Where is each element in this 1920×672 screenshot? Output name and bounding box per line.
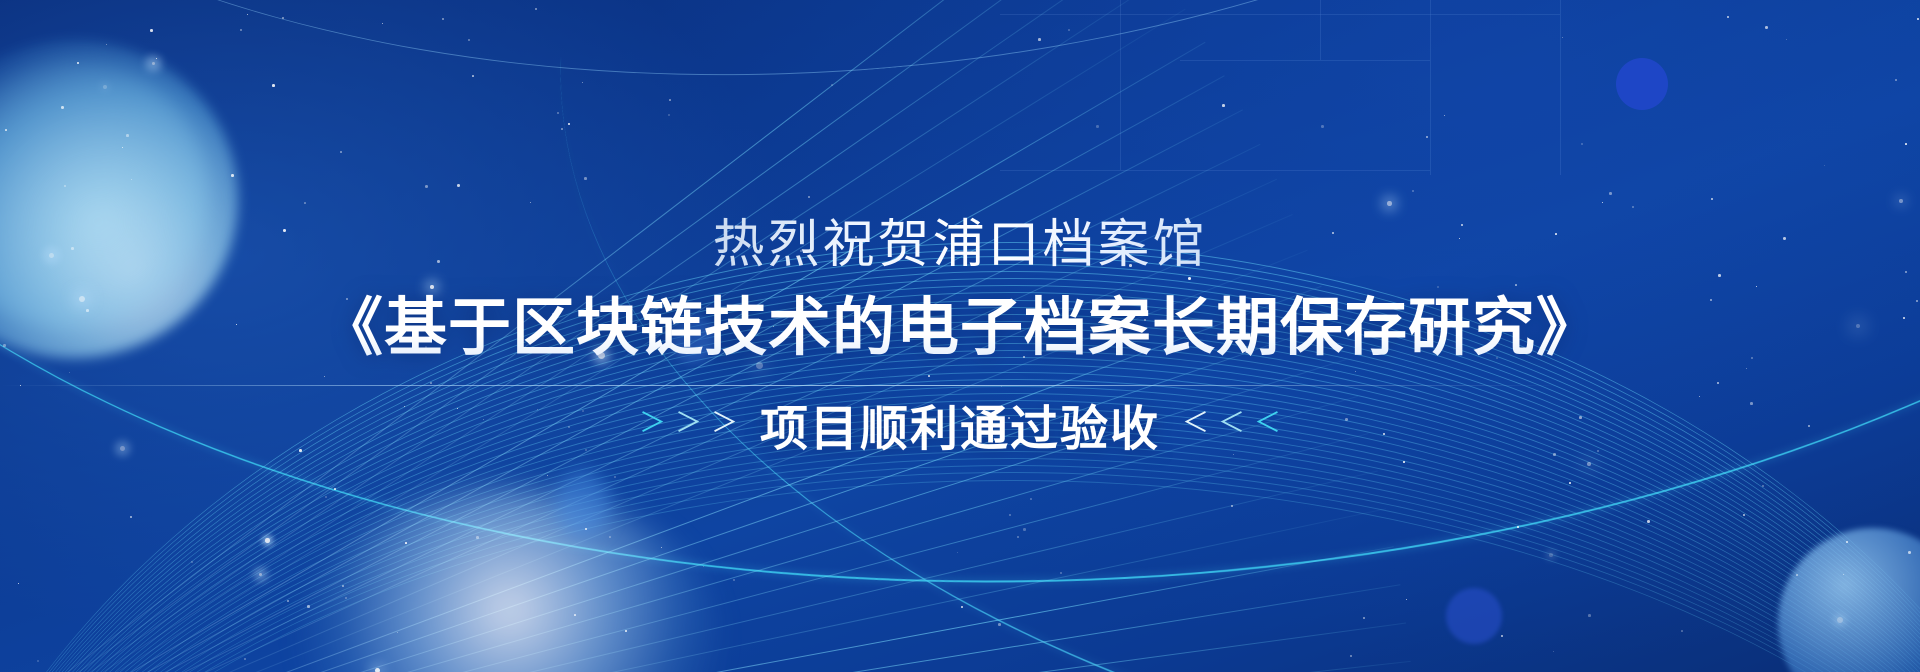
chevron-left-icon: ＜ [1254, 410, 1281, 437]
chevron-right-icon: ＞ [675, 410, 702, 437]
chevron-right-icon: ＞ [711, 410, 738, 437]
chevrons-left-icon: ＞ ＞ ＞ [639, 410, 738, 437]
chevron-right-icon: ＞ [639, 410, 666, 437]
chevron-left-icon: ＜ [1182, 410, 1209, 437]
status-row: ＞ ＞ ＞ 项目顺利通过验收 ＜ ＜ ＜ [639, 389, 1281, 459]
celebration-banner: 热烈祝贺浦口档案馆 《基于区块链技术的电子档案长期保存研究》 ＞ ＞ ＞ 项目顺… [0, 0, 1920, 672]
headline-text: 热烈祝贺浦口档案馆 [712, 213, 1207, 278]
banner-content: 热烈祝贺浦口档案馆 《基于区块链技术的电子档案长期保存研究》 ＞ ＞ ＞ 项目顺… [0, 0, 1920, 672]
chevrons-right-icon: ＜ ＜ ＜ [1182, 410, 1281, 437]
chevron-left-icon: ＜ [1218, 410, 1245, 437]
status-text: 项目顺利通过验收 [760, 389, 1160, 459]
project-title-text: 《基于区块链技术的电子档案长期保存研究》 [320, 290, 1600, 367]
